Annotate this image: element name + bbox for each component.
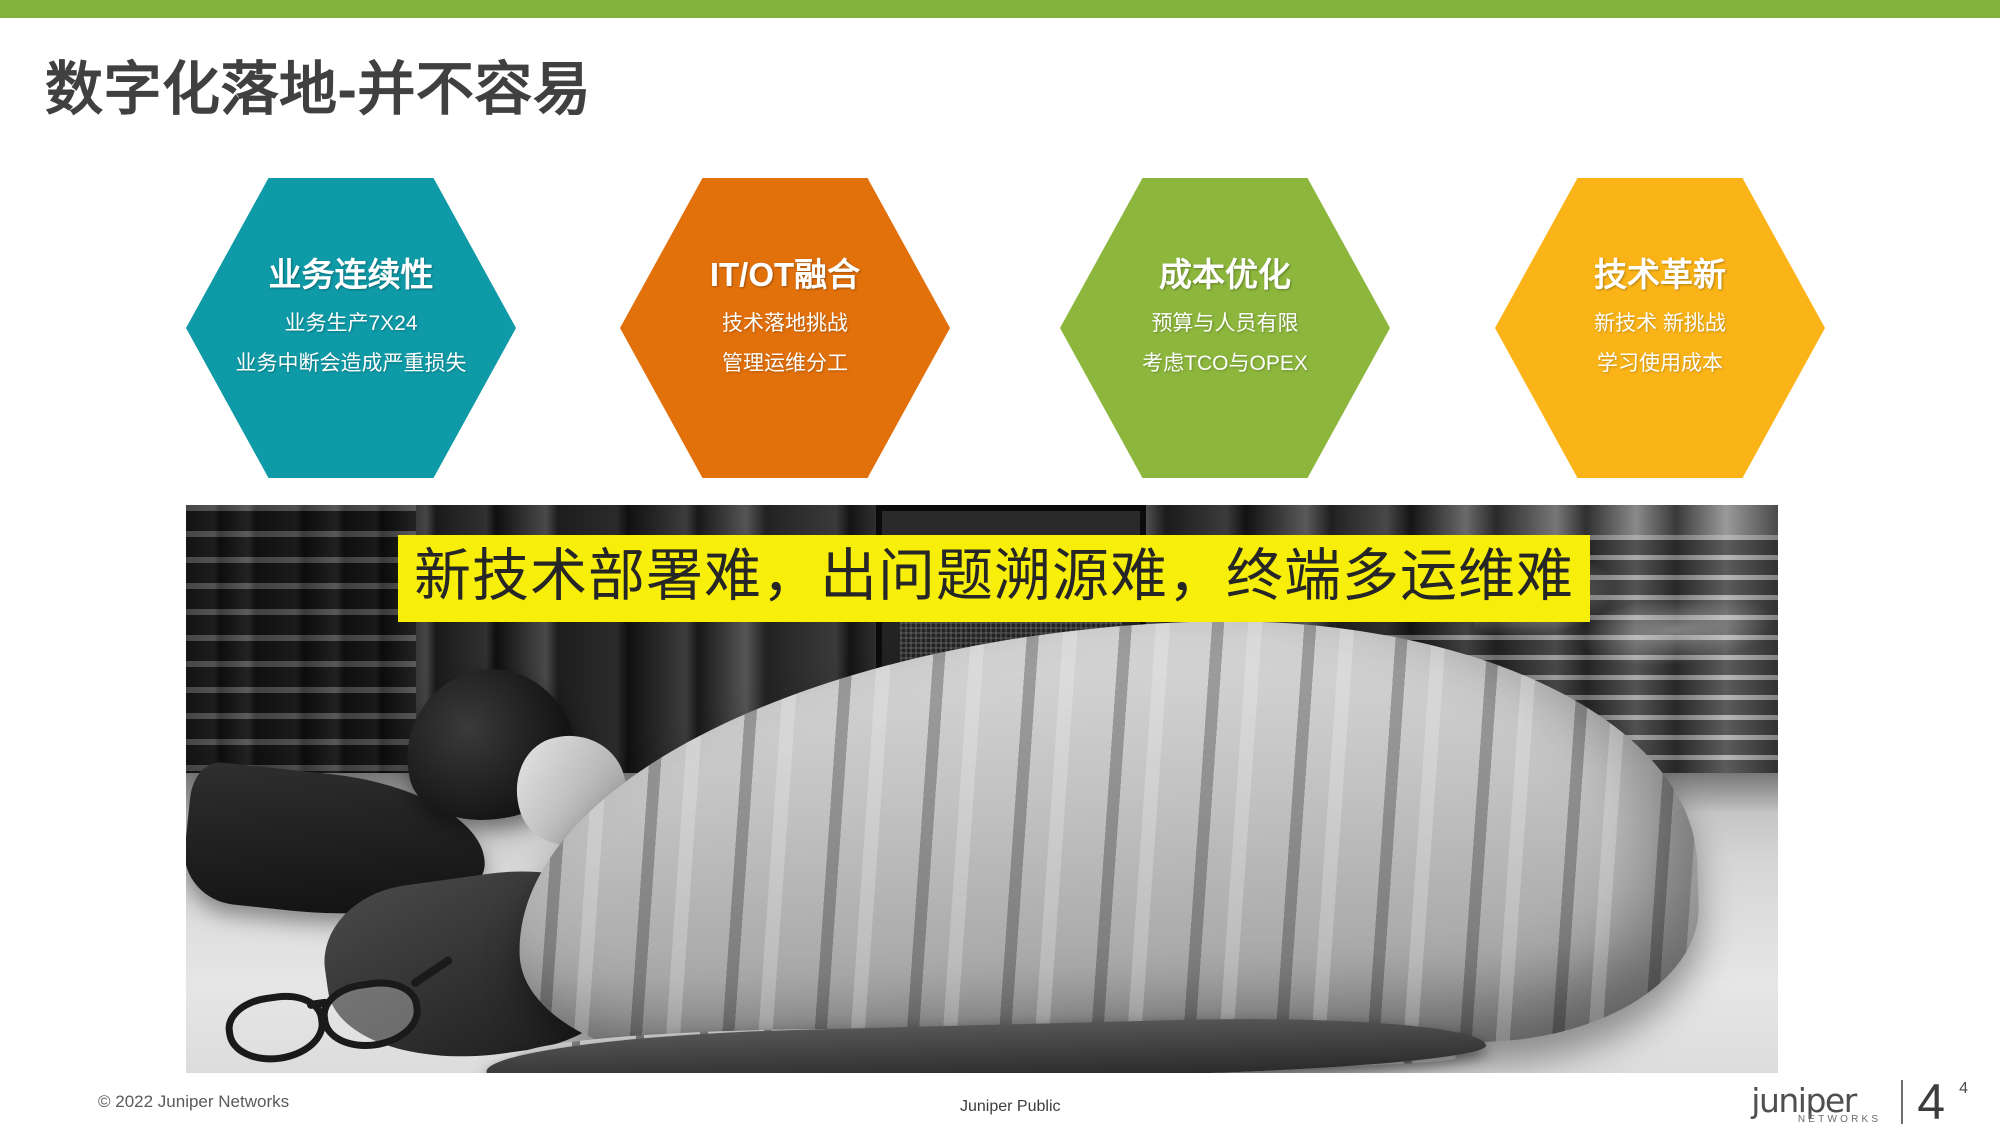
hexagon-subtext-line1: 技术落地挑战 [722, 312, 848, 336]
classification-label: Juniper Public [960, 1098, 1061, 1116]
hexagon-title: IT/OT融合 [710, 256, 860, 294]
hexagon-title: 成本优化 [1159, 256, 1291, 294]
hexagon-card-it-ot-convergence[interactable]: IT/OT融合 技术落地挑战 管理运维分工 [620, 178, 950, 478]
hexagon-subtext-line1: 新技术 新挑战 [1594, 312, 1726, 336]
juniper-logo: Juniper NETWORKS [1751, 1084, 1883, 1124]
juniper-logo-wordmark: Juniper [1751, 1084, 1883, 1117]
page-number-superscript: 4 [1959, 1080, 1968, 1098]
hexagon-card-tech-innovation[interactable]: 技术革新 新技术 新挑战 学习使用成本 [1495, 178, 1825, 478]
page-number: 4 [1917, 1080, 1945, 1125]
brand-footer: Juniper NETWORKS 4 4 [1751, 1078, 1968, 1125]
page-title: 数字化落地-并不容易 [45, 58, 591, 122]
hexagon-subtext-line1: 业务生产7X24 [284, 312, 417, 336]
hexagon-subtext-line2: 业务中断会造成严重损失 [236, 352, 467, 376]
hexagon-subtext-line2: 考虑TCO与OPEX [1142, 352, 1308, 376]
hexagon-row: 业务连续性 业务生产7X24 业务中断会造成严重损失 IT/OT融合 技术落地挑… [0, 178, 2000, 493]
photo-caption-banner: 新技术部署难，出问题溯源难，终端多运维难 [398, 535, 1590, 622]
hexagon-card-cost-optimization[interactable]: 成本优化 预算与人员有限 考虑TCO与OPEX [1060, 178, 1390, 478]
hexagon-subtext-line2: 管理运维分工 [722, 352, 848, 376]
hexagon-card-business-continuity[interactable]: 业务连续性 业务生产7X24 业务中断会造成严重损失 [186, 178, 516, 478]
top-accent-bar [0, 0, 2000, 18]
hexagon-title: 技术革新 [1594, 256, 1726, 294]
slide-canvas: 数字化落地-并不容易 业务连续性 业务生产7X24 业务中断会造成严重损失 IT… [0, 0, 2000, 1125]
copyright-text: © 2022 Juniper Networks [98, 1092, 289, 1112]
hexagon-title: 业务连续性 [269, 256, 434, 294]
footer-divider [1901, 1080, 1903, 1124]
hexagon-subtext-line2: 学习使用成本 [1597, 352, 1723, 376]
juniper-logo-tagline: NETWORKS [1798, 1114, 1881, 1125]
hexagon-subtext-line1: 预算与人员有限 [1152, 312, 1299, 336]
